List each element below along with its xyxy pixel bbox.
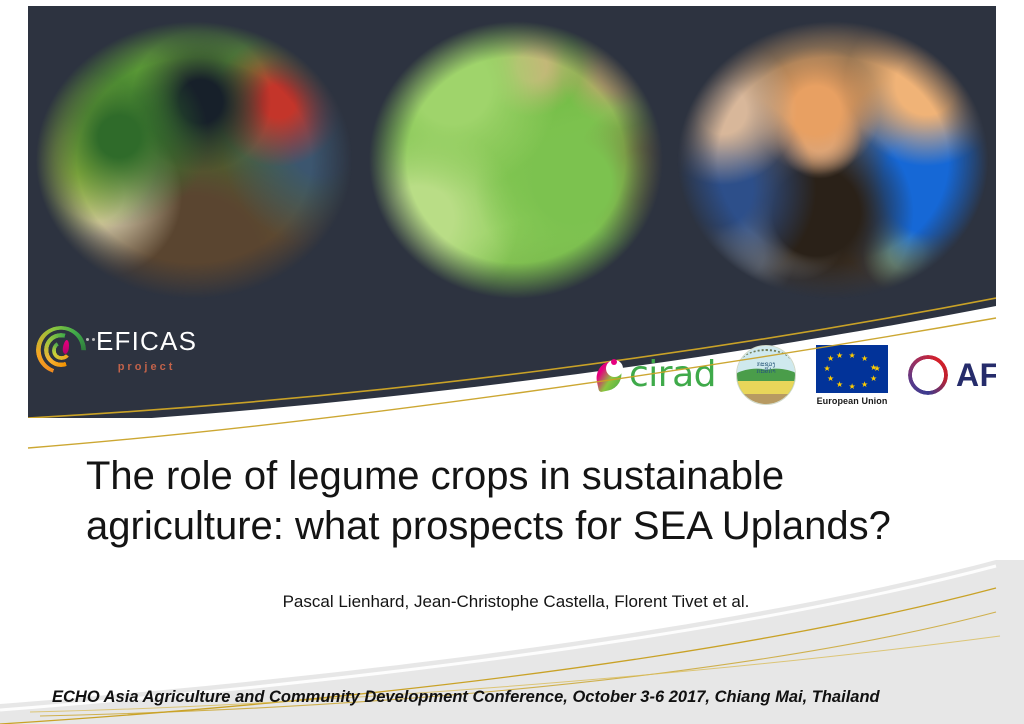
lao-ministry-emblem-icon: ກະຊວງກະສິກຳ — [736, 345, 796, 405]
eficas-logo: EFICAS project — [36, 324, 197, 376]
photo-legume-cover-crop — [358, 14, 674, 306]
eficas-logo-name: EFICAS — [96, 328, 197, 354]
eficas-spiral-icon — [36, 324, 88, 376]
slide-footer: ECHO Asia Agriculture and Community Deve… — [52, 688, 880, 707]
cirad-logo-label: cirad — [629, 357, 716, 393]
cirad-leaf-icon — [593, 358, 627, 392]
eficas-logo-subtitle: project — [96, 362, 197, 373]
afd-ring-icon — [908, 355, 948, 395]
partner-logos: cirad ກະຊວງກະສິກຳ ★ ★ ★ ★ — [593, 342, 996, 408]
eu-logo-label: European Union — [817, 396, 888, 406]
afd-logo: AFD — [908, 355, 996, 395]
eu-flag-icon: ★ ★ ★ ★ ★ ★ ★ ★ ★ ★ ★ ★ — [816, 345, 888, 393]
header-banner: EFICAS project cirad — [28, 6, 996, 418]
photo-women-with-bowls — [666, 14, 996, 306]
slide-title: The role of legume crops in sustainable … — [86, 452, 946, 551]
lao-emblem-logo: ກະຊວງກະສິກຳ — [736, 345, 796, 405]
presentation-slide: EFICAS project cirad — [0, 0, 1024, 724]
slide-authors: Pascal Lienhard, Jean-Christophe Castell… — [86, 592, 946, 612]
photo-strip — [28, 6, 996, 311]
eficas-dots-icon — [86, 328, 98, 346]
photo-farmers-in-field — [28, 14, 364, 306]
cirad-logo: cirad — [593, 357, 716, 393]
afd-logo-label: AFD — [956, 359, 996, 391]
european-union-logo: ★ ★ ★ ★ ★ ★ ★ ★ ★ ★ ★ ★ European Union — [816, 345, 888, 406]
